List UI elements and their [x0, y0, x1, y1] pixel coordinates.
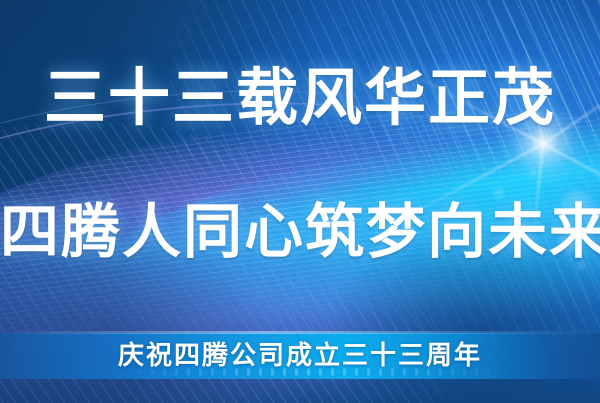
anniversary-banner: 三十三载风华正茂 四腾人同心筑梦向未来 庆祝四腾公司成立三十三周年 [0, 0, 600, 403]
headline-group: 三十三载风华正茂 四腾人同心筑梦向未来 庆祝四腾公司成立三十三周年 [0, 0, 600, 403]
headline-line-2: 四腾人同心筑梦向未来 [0, 198, 600, 266]
subtitle-text: 庆祝四腾公司成立三十三周年 [0, 339, 600, 373]
headline-line-1: 三十三载风华正茂 [0, 64, 600, 134]
